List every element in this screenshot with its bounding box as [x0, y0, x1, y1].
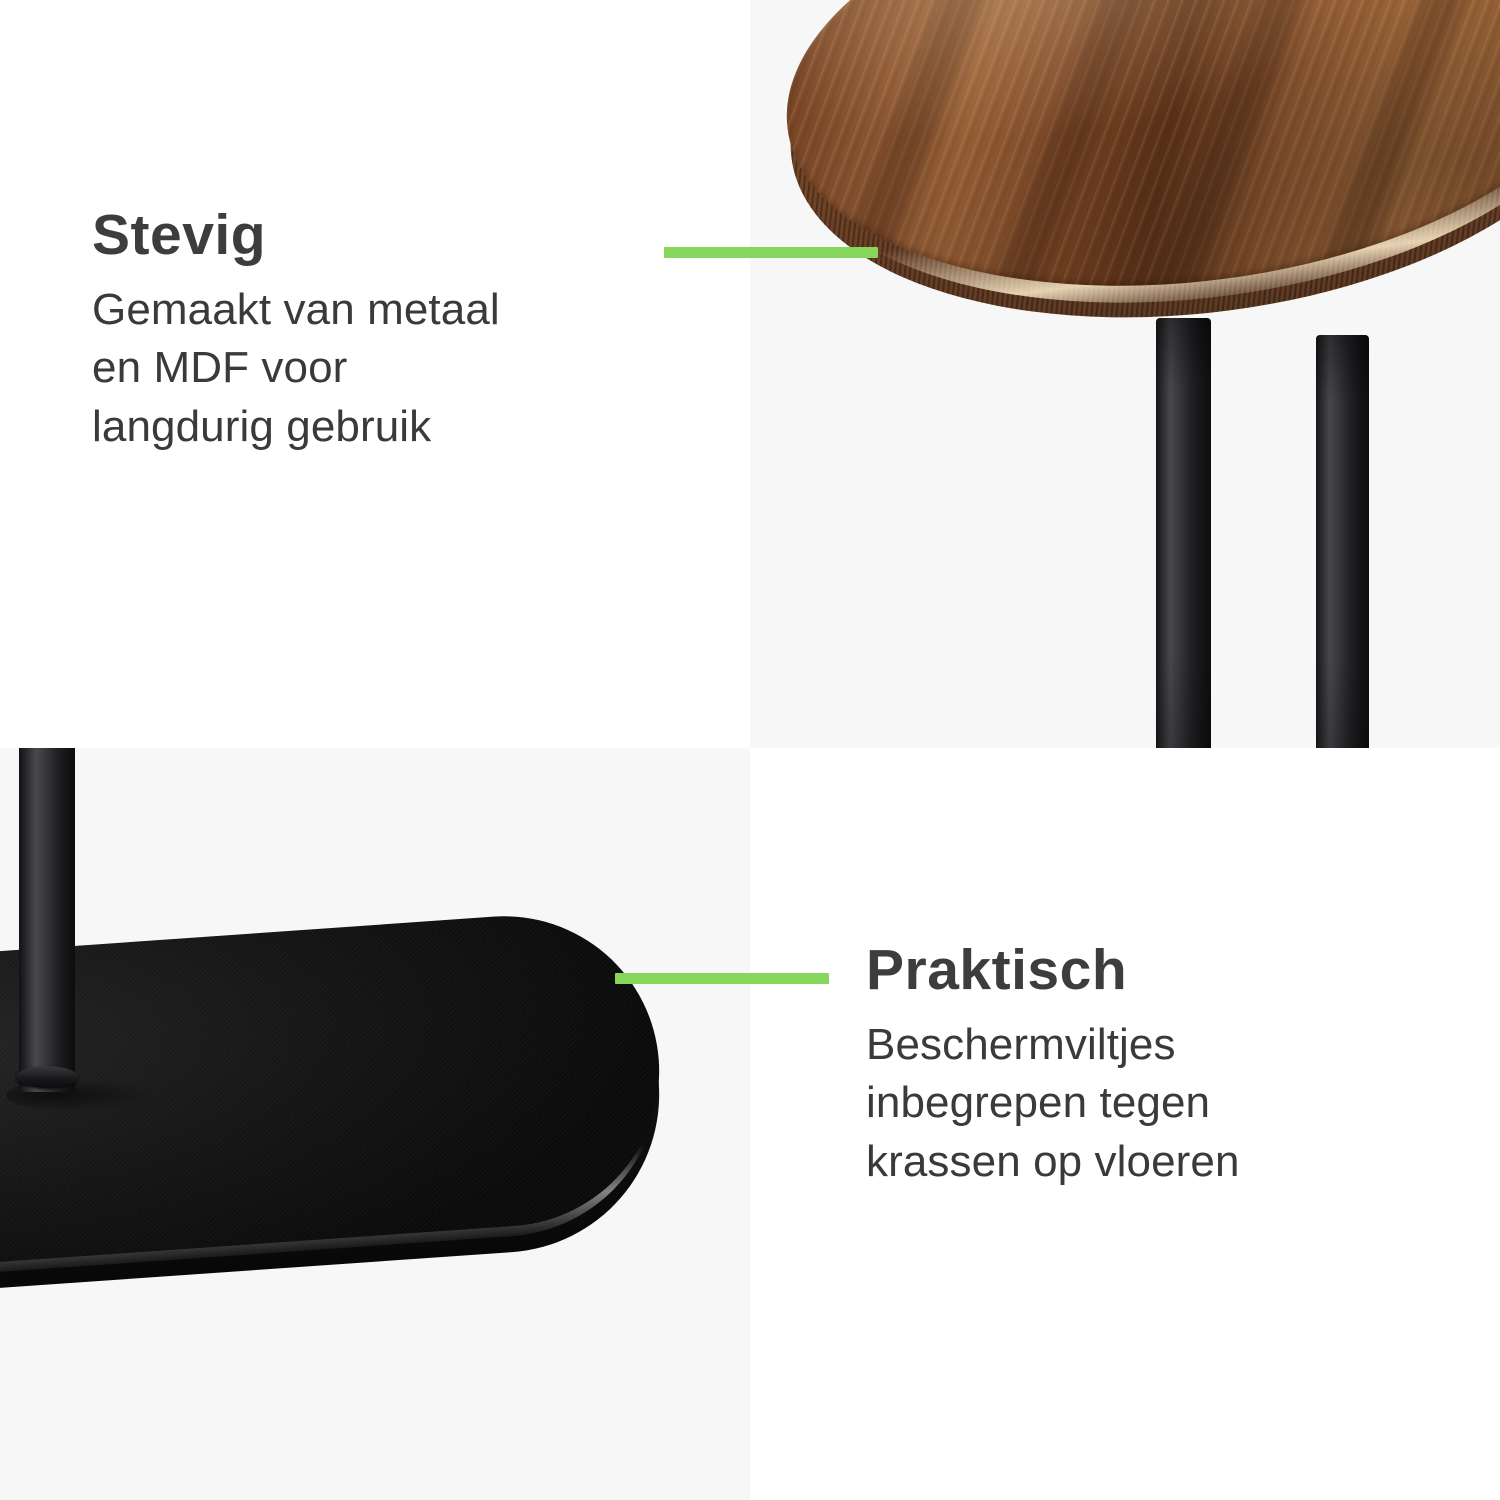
accent-rule-praktisch — [615, 973, 829, 984]
photo-table-top — [750, 0, 1500, 748]
feature-block-stevig: Stevig Gemaakt van metaal en MDF voor la… — [92, 205, 652, 456]
feature-title-stevig: Stevig — [92, 205, 652, 267]
feature-body-praktisch: Beschermviltjes inbegrepen tegen krassen… — [866, 1016, 1426, 1192]
tabletop-rim-light — [761, 0, 1500, 333]
feature-body-stevig: Gemaakt van metaal en MDF voor langdurig… — [92, 281, 652, 457]
feature-body-line: en MDF voor — [92, 339, 652, 398]
table-leg-right — [1316, 335, 1369, 748]
table-leg-left — [1156, 318, 1211, 748]
feature-block-praktisch: Praktisch Beschermviltjes inbegrepen teg… — [866, 940, 1426, 1191]
photo-table-base — [0, 748, 750, 1500]
feature-body-line: inbegrepen tegen — [866, 1074, 1426, 1133]
accent-rule-stevig — [664, 247, 878, 258]
feature-body-line: langdurig gebruik — [92, 398, 652, 457]
feature-body-line: krassen op vloeren — [866, 1133, 1426, 1192]
infographic-page: Stevig Gemaakt van metaal en MDF voor la… — [0, 0, 1500, 1500]
table-leg-left-shading — [1156, 318, 1211, 748]
pole-collar-ring — [16, 1066, 78, 1088]
feature-title-praktisch: Praktisch — [866, 940, 1426, 1002]
feature-body-line: Beschermviltjes — [866, 1016, 1426, 1075]
oval-walnut-tabletop — [761, 0, 1500, 422]
black-round-pole — [19, 748, 75, 1092]
feature-body-line: Gemaakt van metaal — [92, 281, 652, 340]
table-leg-right-shading — [1316, 335, 1369, 748]
